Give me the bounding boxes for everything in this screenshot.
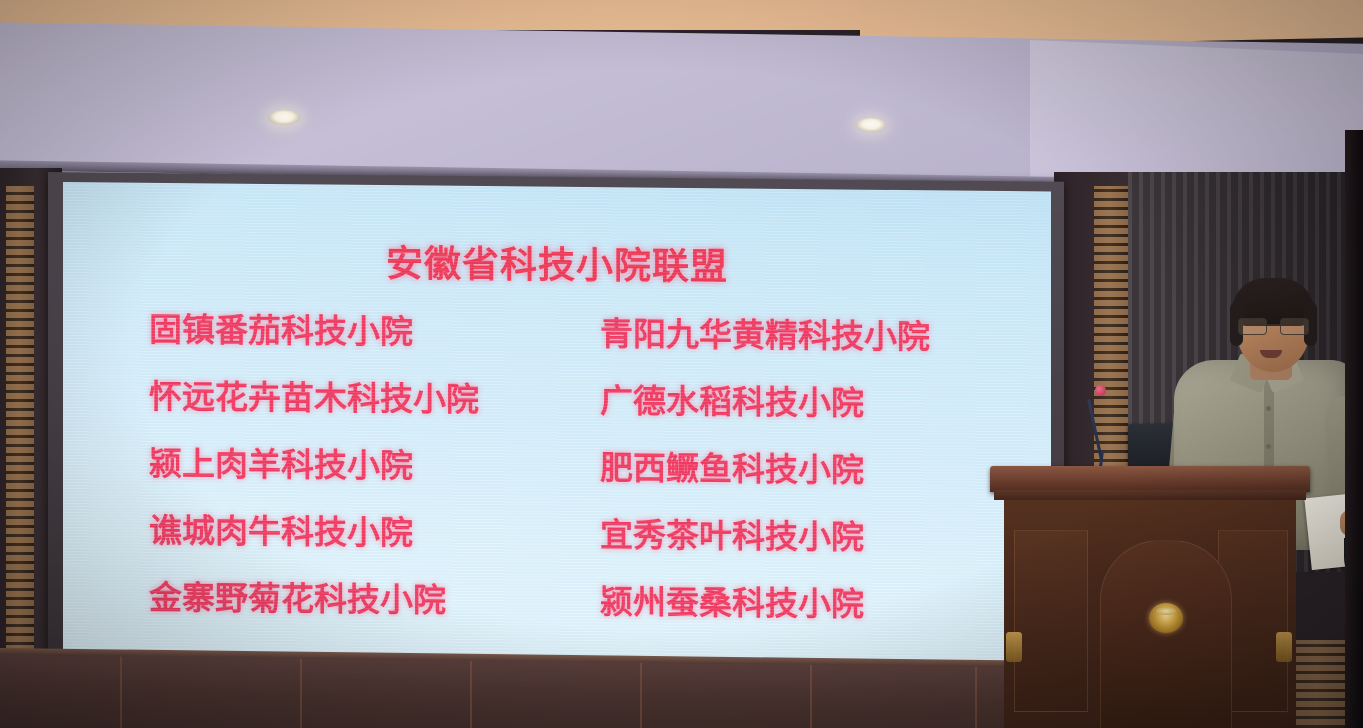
wainscot-seam [640,663,642,728]
glasses-bridge [1265,324,1281,326]
wood-slat-panel-left [6,186,34,672]
microphone-head-icon [1095,385,1106,396]
screenshot-root: 安徽省科技小院联盟 固镇番茄科技小院 怀远花卉苗木科技小院 颍上肉羊科技小院 谯… [0,0,1363,728]
slide-content: 安徽省科技小院联盟 固镇番茄科技小院 怀远花卉苗木科技小院 颍上肉羊科技小院 谯… [63,182,1051,669]
slide-columns: 固镇番茄科技小院 怀远花卉苗木科技小院 颍上肉羊科技小院 谯城肉牛科技小院 金寨… [97,312,1017,656]
presentation-screen: 安徽省科技小院联盟 固镇番茄科技小院 怀远花卉苗木科技小院 颍上肉羊科技小院 谯… [63,182,1051,669]
podium-body [1004,500,1296,728]
slide-title: 安徽省科技小院联盟 [97,230,1017,293]
podium-lip [994,490,1306,500]
right-edge-shadow [1345,130,1363,728]
list-item: 青阳九华黄精科技小院 [600,317,1017,354]
list-item: 固镇番茄科技小院 [149,313,566,350]
list-item: 肥西鳜鱼科技小院 [600,451,1017,488]
glasses-lens-left [1238,318,1267,335]
slide-column-right: 青阳九华黄精科技小院 广德水稻科技小院 肥西鳜鱼科技小院 宜秀茶叶科技小院 颍州… [566,317,1017,656]
list-item: 怀远花卉苗木科技小院 [149,380,566,417]
wainscot-seam [975,667,977,728]
wainscot-seam [120,656,122,728]
shirt-button [1266,444,1271,449]
wainscot-seam [470,661,472,728]
wainscot-wall [0,655,1090,728]
national-emblem-icon [1149,603,1183,633]
list-item: 广德水稻科技小院 [600,384,1017,421]
podium-panel-left [1014,530,1088,712]
list-item: 颍上肉羊科技小院 [149,447,566,484]
podium-top-surface [990,466,1310,492]
wainscot-seam [300,659,302,728]
list-item: 谯城肉牛科技小院 [149,514,566,551]
shirt-button [1266,406,1271,411]
list-item: 金寨野菊花科技小院 [149,581,566,618]
downlight-icon-left [268,110,300,125]
podium [990,466,1310,728]
glasses-lens-right [1280,318,1309,335]
list-item: 宜秀茶叶科技小院 [600,518,1017,555]
slide-column-left: 固镇番茄科技小院 怀远花卉苗木科技小院 颍上肉羊科技小院 谯城肉牛科技小院 金寨… [97,312,566,652]
podium-corner-ornament-left [1006,632,1022,662]
podium-center-panel [1100,540,1232,728]
downlight-icon-right [856,118,886,132]
glasses-icon [1238,318,1308,334]
podium-corner-ornament-right [1276,632,1292,662]
conference-room: 安徽省科技小院联盟 固镇番茄科技小院 怀远花卉苗木科技小院 颍上肉羊科技小院 谯… [0,0,1363,728]
wainscot-seam [810,665,812,728]
list-item: 颍州蚕桑科技小院 [600,585,1017,622]
